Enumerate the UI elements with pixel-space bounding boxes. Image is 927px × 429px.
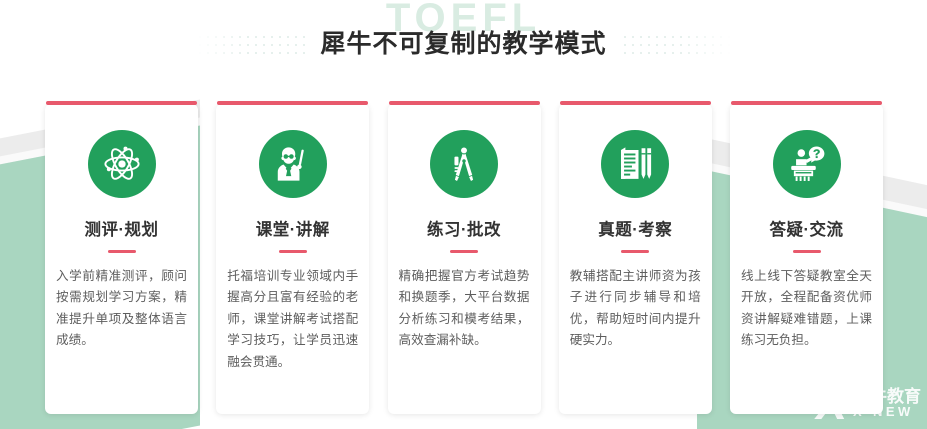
card-accent-bar (46, 101, 197, 105)
card-title: 答疑·交流 (770, 216, 844, 240)
card-divider (793, 250, 821, 253)
teacher-pointer-icon (259, 130, 327, 198)
card-title: 课堂·讲解 (256, 216, 330, 240)
feature-card[interactable]: 课堂·讲解 托福培训专业领域内手握高分且富有经验的老师，课堂讲解考试搭配学习技巧… (216, 104, 369, 414)
card-accent-bar (731, 101, 882, 105)
card-description: 教辅搭配主讲师资为孩子进行同步辅导和培优，帮助短时间内提升硬实力。 (570, 266, 701, 353)
feature-card[interactable]: 练习·批改 精确把握官方考试趋势和换题季，大平台数据分析练习和模考结果，高效查漏… (388, 104, 541, 414)
feature-card[interactable]: 测评·规划 入学前精准测评，顾问按需规划学习方案，精准提升单项及整体语言成绩。 (45, 104, 198, 414)
card-description: 入学前精准测评，顾问按需规划学习方案，精准提升单项及整体语言成绩。 (56, 266, 187, 353)
compass-divider-icon (430, 130, 498, 198)
document-pencil-icon (601, 130, 669, 198)
card-description: 精确把握官方考试趋势和换题季，大平台数据分析练习和模考结果，高效查漏补缺。 (399, 266, 530, 353)
feature-card[interactable]: 真题·考察 教辅搭配主讲师资为孩子进行同步辅导和培优，帮助短时间内提升硬实力。 (559, 104, 712, 414)
card-description: 线上线下答疑教室全天开放，全程配备资优师资讲解疑难错题，上课练习无负担。 (741, 266, 872, 353)
promo-banner: TOEFL 犀牛不可复制的教学模式 测评·规划 入学前 (0, 0, 927, 429)
card-accent-bar (389, 101, 540, 105)
card-accent-bar (560, 101, 711, 105)
atom-icon (88, 130, 156, 198)
card-divider (450, 250, 478, 253)
feature-card[interactable]: 答疑·交流 线上线下答疑教室全天开放，全程配备资优师资讲解疑难错题，上课练习无负… (730, 104, 883, 414)
student-question-icon (773, 130, 841, 198)
feature-card-list: 测评·规划 入学前精准测评，顾问按需规划学习方案，精准提升单项及整体语言成绩。 (45, 104, 883, 414)
page-title: 犀牛不可复制的教学模式 (0, 24, 927, 60)
card-accent-bar (217, 101, 368, 105)
card-title: 练习·批改 (427, 216, 501, 240)
card-title: 真题·考察 (598, 216, 672, 240)
card-divider (279, 250, 307, 253)
card-divider (621, 250, 649, 253)
card-divider (108, 250, 136, 253)
card-title: 测评·规划 (85, 216, 159, 240)
card-description: 托福培训专业领域内手握高分且富有经验的老师，课堂讲解考试搭配学习技巧，让学员迅速… (227, 266, 358, 374)
